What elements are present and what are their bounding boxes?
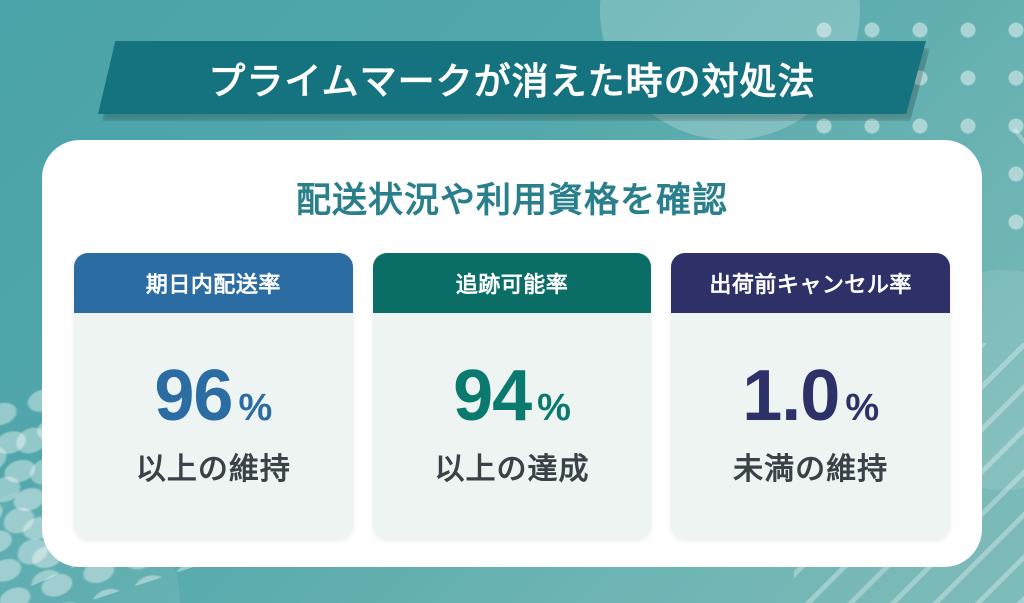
- metric-caption: 未満の維持: [733, 444, 888, 488]
- metric-card-header: 出荷前キャンセル率: [671, 253, 950, 313]
- metric-value: 1.0: [742, 360, 839, 432]
- title-banner: プライムマークが消えた時の対処法: [98, 41, 926, 114]
- content-panel: 配送状況や利用資格を確認 期日内配送率 96 % 以上の維持 追跡可能率 94: [42, 140, 982, 567]
- diagonal-line-right: [1013, 128, 1024, 312]
- metric-value: 96: [154, 360, 232, 432]
- metric-card-header: 追跡可能率: [373, 253, 652, 313]
- metric-value: 94: [453, 360, 531, 432]
- metric-percent-sign: %: [845, 389, 879, 427]
- metric-card-tracking-rate: 追跡可能率 94 % 以上の達成: [373, 253, 652, 539]
- metric-value-row: 1.0 %: [742, 360, 879, 432]
- metric-card-delivery-rate: 期日内配送率 96 % 以上の維持: [74, 253, 353, 539]
- metric-percent-sign: %: [537, 389, 571, 427]
- metric-card-cancel-rate: 出荷前キャンセル率 1.0 % 未満の維持: [671, 253, 950, 539]
- metric-caption: 以上の達成: [435, 444, 590, 488]
- metric-card-body: 96 % 以上の維持: [74, 313, 353, 539]
- metric-card-body: 94 % 以上の達成: [373, 313, 652, 539]
- metric-card-list: 期日内配送率 96 % 以上の維持 追跡可能率 94 % 以上の達成: [74, 253, 950, 539]
- metric-percent-sign: %: [238, 389, 272, 427]
- title-banner-shape: プライムマークが消えた時の対処法: [98, 41, 926, 114]
- metric-card-body: 1.0 % 未満の維持: [671, 313, 950, 539]
- page-title: プライムマークが消えた時の対処法: [208, 51, 815, 105]
- panel-heading: 配送状況や利用資格を確認: [42, 172, 982, 223]
- infographic-poster: プライムマークが消えた時の対処法 配送状況や利用資格を確認 期日内配送率 96 …: [0, 0, 1024, 603]
- metric-value-row: 94 %: [453, 360, 571, 432]
- metric-card-header: 期日内配送率: [74, 253, 353, 313]
- metric-caption: 以上の維持: [136, 444, 291, 488]
- metric-value-row: 96 %: [154, 360, 272, 432]
